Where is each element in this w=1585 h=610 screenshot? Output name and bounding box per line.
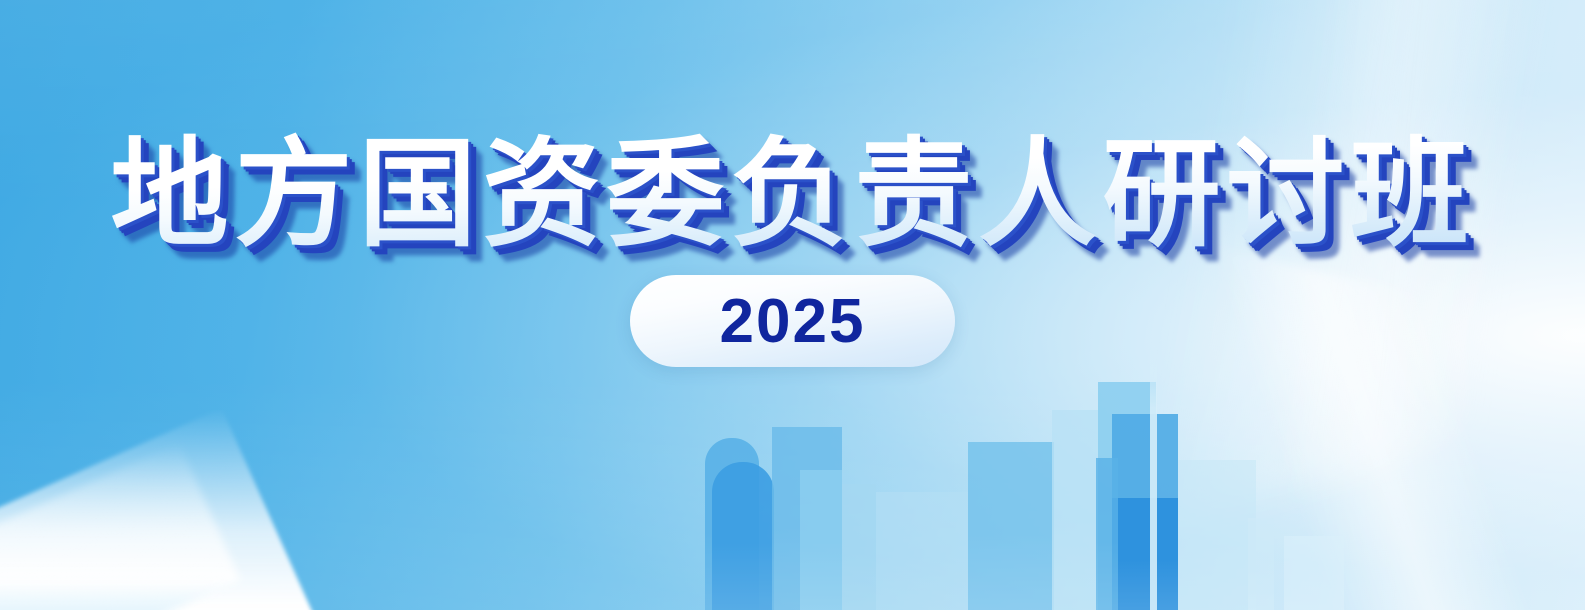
year-badge-label: 2025 (720, 286, 866, 357)
banner-title: 地方国资委负责人研讨班 (110, 132, 1474, 257)
training-program-banner: 地方国资委负责人研讨班 2025 (0, 0, 1585, 610)
year-badge: 2025 (630, 275, 955, 367)
banner-content: 地方国资委负责人研讨班 2025 (0, 0, 1585, 610)
